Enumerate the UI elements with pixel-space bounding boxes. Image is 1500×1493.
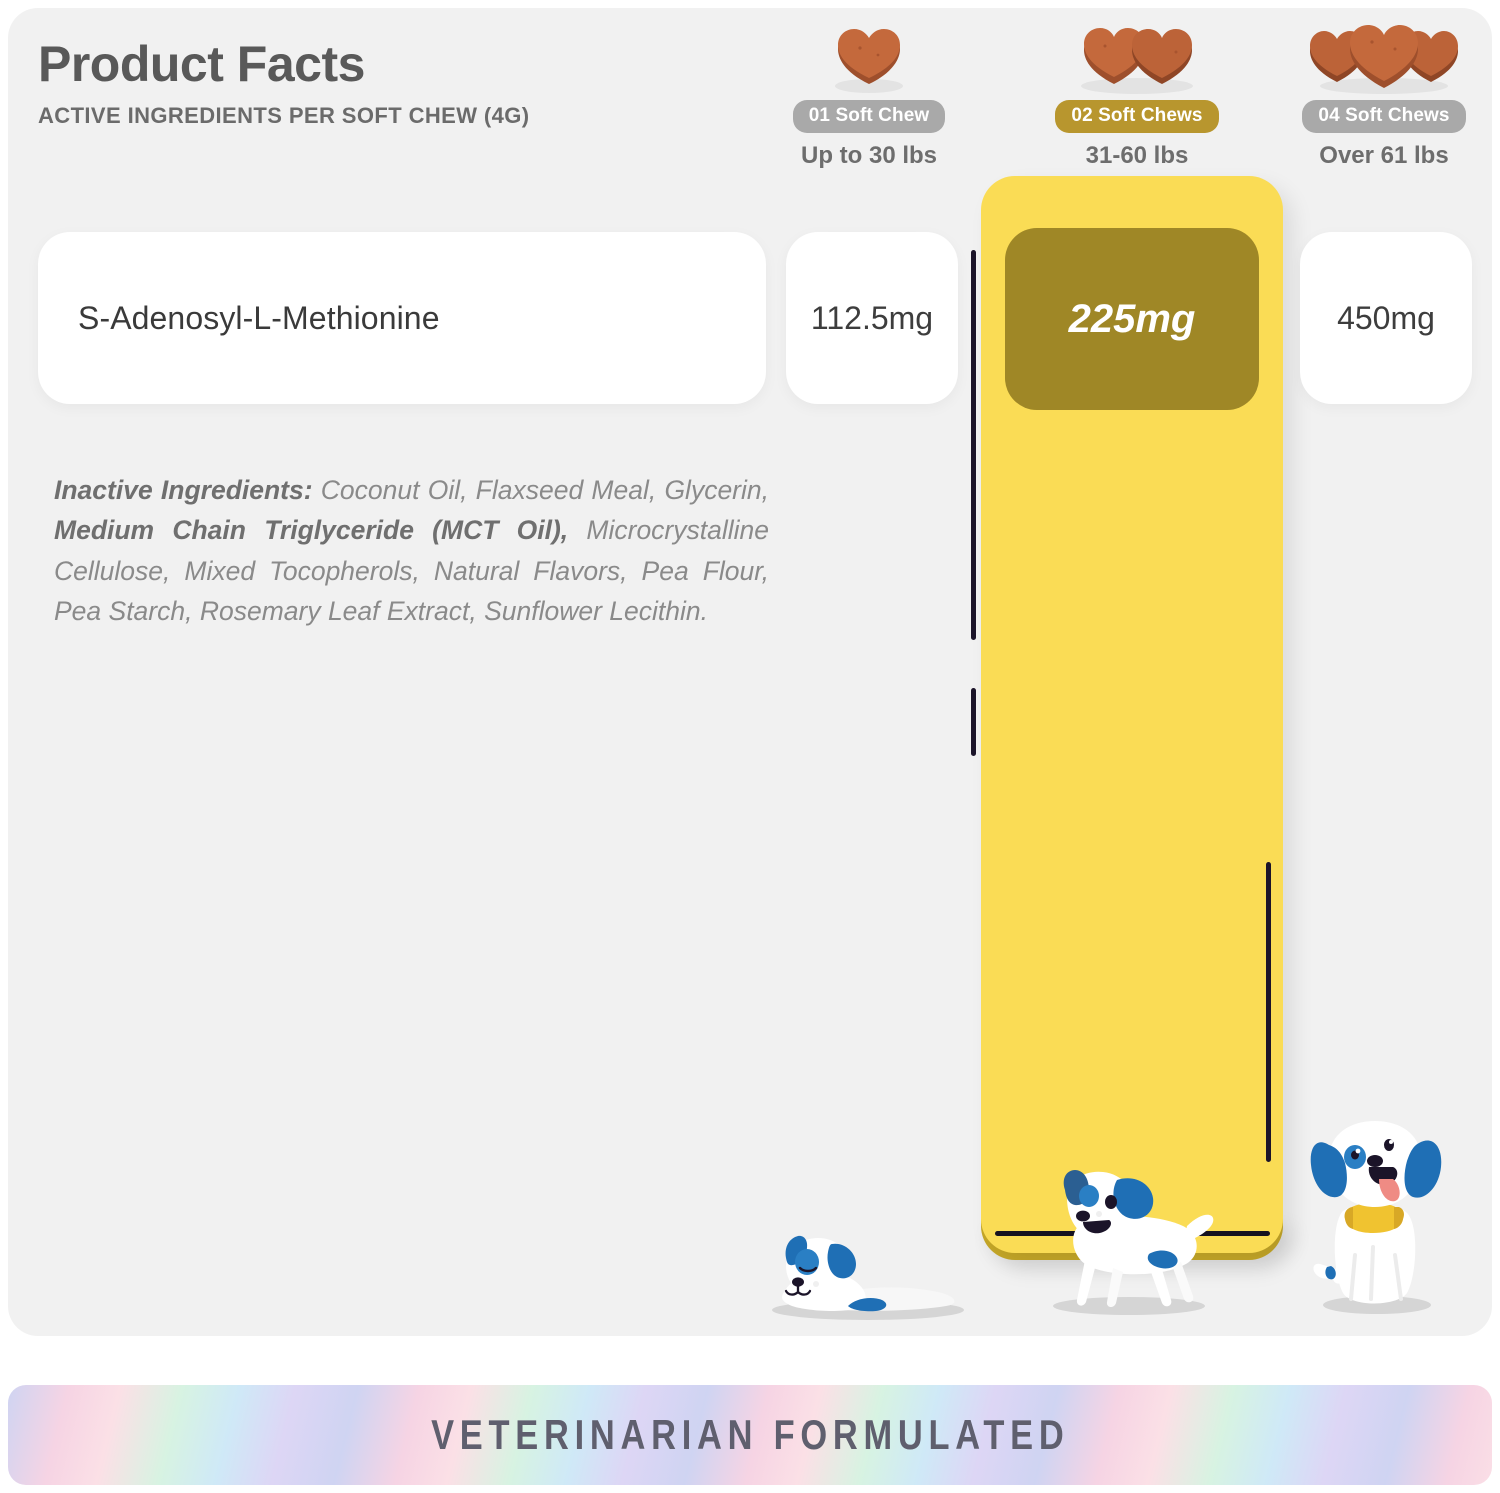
- ingredient-amount-2: 225mg: [1005, 228, 1259, 410]
- inactive-ingredients-part1: Coconut Oil, Flaxseed Meal, Glycerin,: [313, 475, 769, 505]
- inactive-ingredients-bold: Medium Chain Triglyceride (MCT Oil),: [54, 515, 568, 545]
- column-edge-line-left-upper: [971, 250, 976, 640]
- dose-badge-3: 04 Soft Chews: [1302, 100, 1465, 133]
- heading-block: Product Facts ACTIVE INGREDIENTS PER SOF…: [38, 38, 530, 129]
- dog-treat-heart-icon: [1013, 22, 1261, 94]
- banner-text: VETERINARIAN FORMULATED: [431, 1411, 1069, 1459]
- dog-treat-heart-icon: [745, 22, 993, 94]
- page-title: Product Facts: [38, 38, 530, 91]
- dose-column-header-2: 02 Soft Chews 31-60 lbs: [1013, 22, 1261, 170]
- dog-sitting-icon: [1303, 1115, 1447, 1315]
- column-edge-line-left-lower: [971, 688, 976, 756]
- veterinarian-formulated-banner: VETERINARIAN FORMULATED: [8, 1385, 1492, 1485]
- dose-weight-3: Over 61 lbs: [1260, 142, 1500, 170]
- ingredient-amount-1: 112.5mg: [786, 232, 958, 404]
- column-edge-line-right: [1266, 862, 1271, 1162]
- dose-badge-2: 02 Soft Chews: [1055, 100, 1218, 133]
- inactive-ingredients: Inactive Ingredients: Coconut Oil, Flaxs…: [54, 470, 769, 631]
- dose-column-header-3: 04 Soft Chews Over 61 lbs: [1260, 22, 1500, 170]
- ingredient-name-card: S-Adenosyl-L-Methionine: [38, 232, 766, 404]
- page-subtitle: ACTIVE INGREDIENTS PER SOFT CHEW (4G): [38, 103, 530, 129]
- inactive-ingredients-label: Inactive Ingredients:: [54, 475, 313, 505]
- dog-treat-heart-icon: [1260, 22, 1500, 94]
- dose-badge-1: 01 Soft Chew: [793, 100, 946, 133]
- product-facts-infographic: Product Facts ACTIVE INGREDIENTS PER SOF…: [0, 0, 1500, 1493]
- ingredient-amount-3: 450mg: [1300, 232, 1472, 404]
- dose-weight-1: Up to 30 lbs: [745, 142, 993, 170]
- ingredient-name: S-Adenosyl-L-Methionine: [78, 300, 440, 337]
- dog-lying-icon: [760, 1222, 972, 1320]
- dose-weight-2: 31-60 lbs: [1013, 142, 1261, 170]
- dog-walking-icon: [1037, 1168, 1215, 1316]
- dose-column-header-1: 01 Soft Chew Up to 30 lbs: [745, 22, 993, 170]
